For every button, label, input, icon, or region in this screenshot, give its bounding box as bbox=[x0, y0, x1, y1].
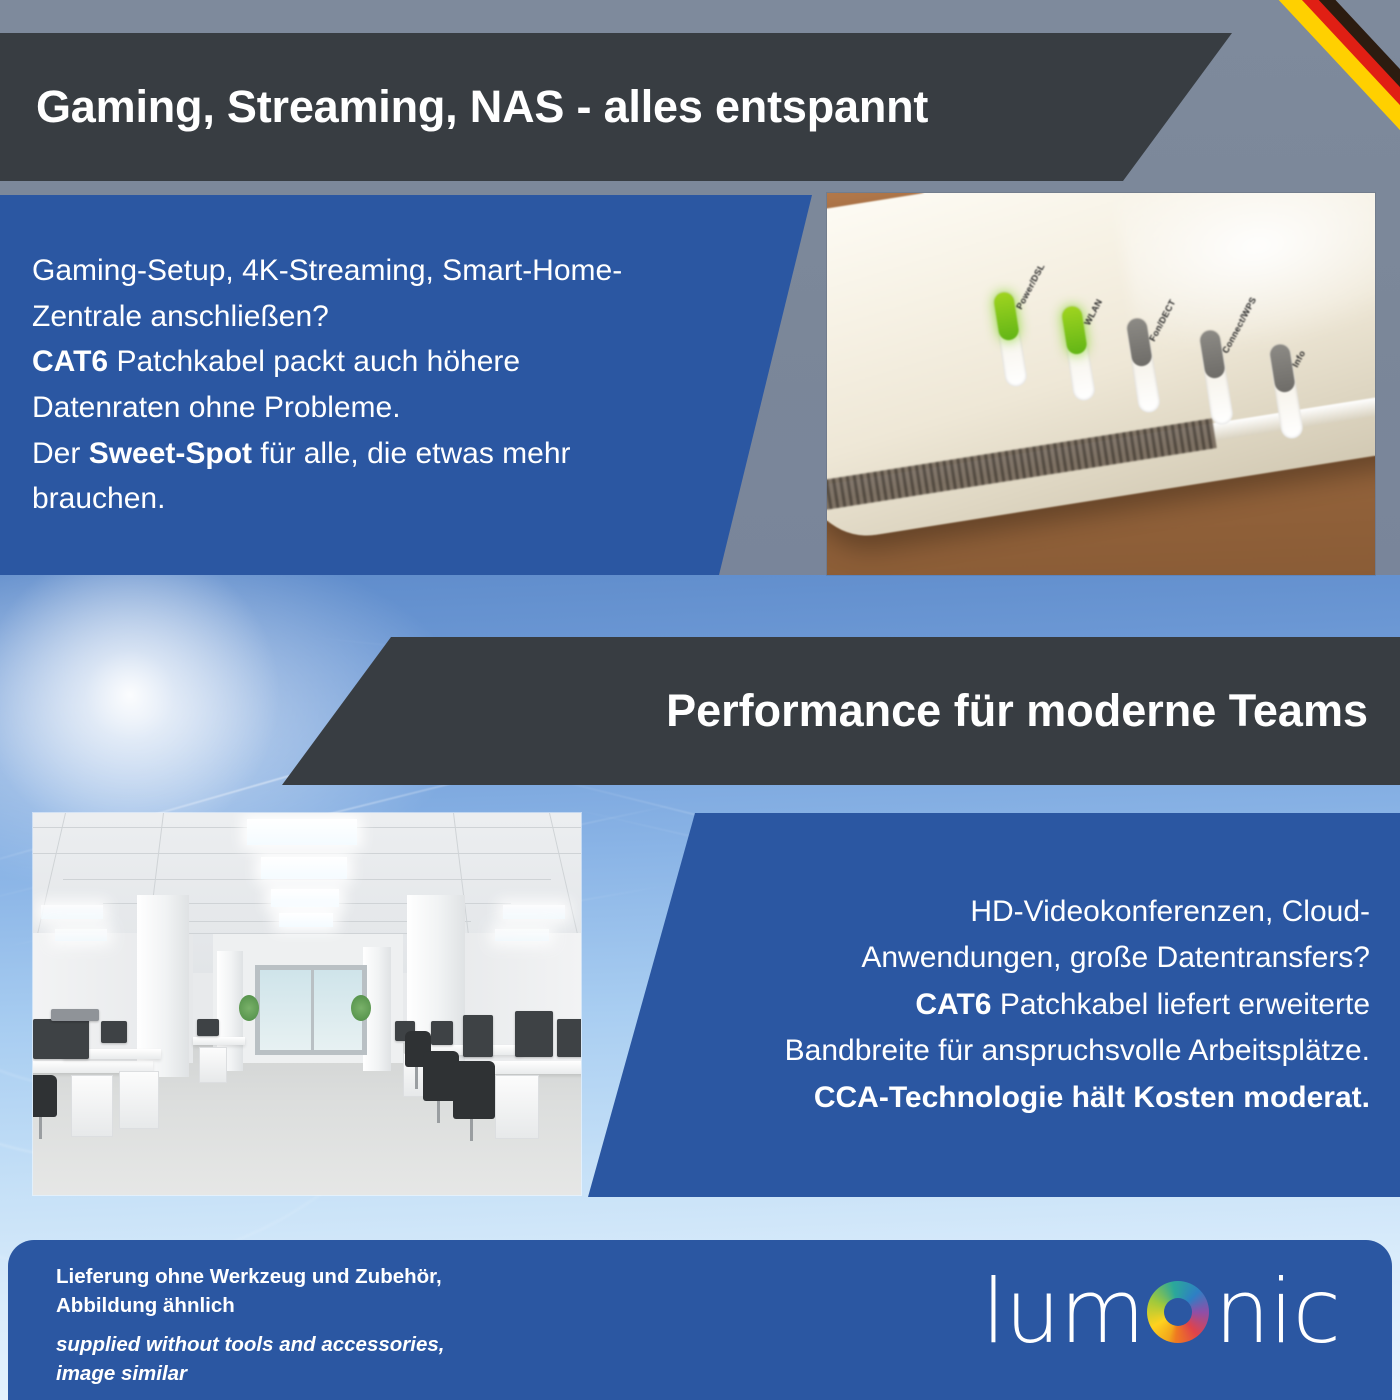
bottom-paragraph: HD-Videokonferenzen, Cloud- Anwendungen,… bbox=[710, 889, 1370, 1122]
top-text-panel: Gaming-Setup, 4K-Streaming, Smart-Home- … bbox=[0, 195, 812, 575]
ceiling-light bbox=[279, 913, 333, 927]
pedestal bbox=[71, 1075, 113, 1137]
monitor bbox=[557, 1019, 581, 1057]
bottom-text-panel: HD-Videokonferenzen, Cloud- Anwendungen,… bbox=[588, 813, 1400, 1197]
monitor bbox=[463, 1015, 493, 1057]
top-line-5: für alle, die etwas mehr bbox=[252, 437, 570, 470]
plant bbox=[351, 995, 371, 1021]
disclaimer-en-line2: image similar bbox=[56, 1359, 444, 1388]
pedestal bbox=[495, 1075, 539, 1139]
ceiling-light bbox=[495, 929, 549, 941]
logo-text-part1: lum bbox=[981, 1268, 1144, 1356]
ceiling-light bbox=[261, 857, 347, 879]
bottom-banner-title: Performance für moderne Teams bbox=[666, 685, 1368, 737]
monitor bbox=[101, 1021, 127, 1043]
ceiling-light bbox=[271, 889, 339, 907]
bottom-banner: Performance für moderne Teams bbox=[282, 637, 1400, 785]
disclaimer-en-line1: supplied without tools and accessories, bbox=[56, 1330, 444, 1359]
lumonic-logo: lum nic bbox=[981, 1268, 1340, 1356]
ceiling-light bbox=[247, 819, 357, 845]
top-line-4: Datenraten ohne Probleme. bbox=[32, 391, 401, 424]
top-line-1: Gaming-Setup, 4K-Streaming, Smart-Home- bbox=[32, 254, 622, 287]
bottom-line-3: Patchkabel liefert erweiterte bbox=[991, 988, 1370, 1021]
logo-text-part2: nic bbox=[1214, 1268, 1340, 1356]
office-chair bbox=[453, 1061, 495, 1119]
monitor bbox=[33, 1019, 89, 1059]
router-photo: Power/DSL WLAN Fon/DECT Connect/WPS Info bbox=[827, 193, 1375, 575]
ceiling-light bbox=[503, 905, 565, 919]
bottom-line-2: Anwendungen, große Datentransfers? bbox=[861, 941, 1370, 974]
top-line-5-pre: Der bbox=[32, 437, 89, 470]
office-chair bbox=[33, 1075, 57, 1117]
top-banner: Gaming, Streaming, NAS - alles entspannt bbox=[0, 33, 1232, 181]
monitor bbox=[515, 1011, 553, 1057]
top-line-5-bold: Sweet-Spot bbox=[89, 437, 252, 470]
bottom-line-4: Bandbreite für anspruchsvolle Arbeitsplä… bbox=[785, 1034, 1370, 1067]
disclaimer-text: Lieferung ohne Werkzeug und Zubehör, Abb… bbox=[56, 1262, 444, 1388]
disclaimer-de-line2: Abbildung ähnlich bbox=[56, 1294, 235, 1317]
bottom-line-3-bold: CAT6 bbox=[915, 988, 991, 1021]
disclaimer-de-line1: Lieferung ohne Werkzeug und Zubehör, bbox=[56, 1265, 442, 1288]
pedestal bbox=[119, 1071, 159, 1129]
top-paragraph: Gaming-Setup, 4K-Streaming, Smart-Home- … bbox=[32, 248, 692, 522]
plant bbox=[239, 995, 259, 1021]
monitor bbox=[431, 1021, 453, 1045]
bottom-line-1: HD-Videokonferenzen, Cloud- bbox=[970, 895, 1370, 928]
office-photo bbox=[33, 813, 581, 1195]
desk bbox=[193, 1037, 245, 1045]
top-banner-title: Gaming, Streaming, NAS - alles entspannt bbox=[36, 81, 928, 133]
ceiling-light bbox=[55, 929, 107, 941]
footer-bar: Lieferung ohne Werkzeug und Zubehör, Abb… bbox=[8, 1240, 1392, 1400]
bottom-line-5-bold: CCA-Technologie hält Kosten moderat. bbox=[814, 1081, 1370, 1114]
rainbow-ring-o-icon bbox=[1147, 1281, 1209, 1343]
top-line-6: brauchen. bbox=[32, 482, 165, 515]
monitor bbox=[51, 1009, 99, 1021]
pedestal bbox=[199, 1047, 227, 1083]
top-line-3-bold: CAT6 bbox=[32, 345, 108, 378]
top-line-2: Zentrale anschließen? bbox=[32, 300, 329, 333]
infographic-page: Gaming, Streaming, NAS - alles entspannt… bbox=[0, 0, 1400, 1400]
monitor bbox=[197, 1019, 219, 1036]
ceiling-light bbox=[41, 905, 103, 919]
top-line-3: Patchkabel packt auch höhere bbox=[108, 345, 520, 378]
